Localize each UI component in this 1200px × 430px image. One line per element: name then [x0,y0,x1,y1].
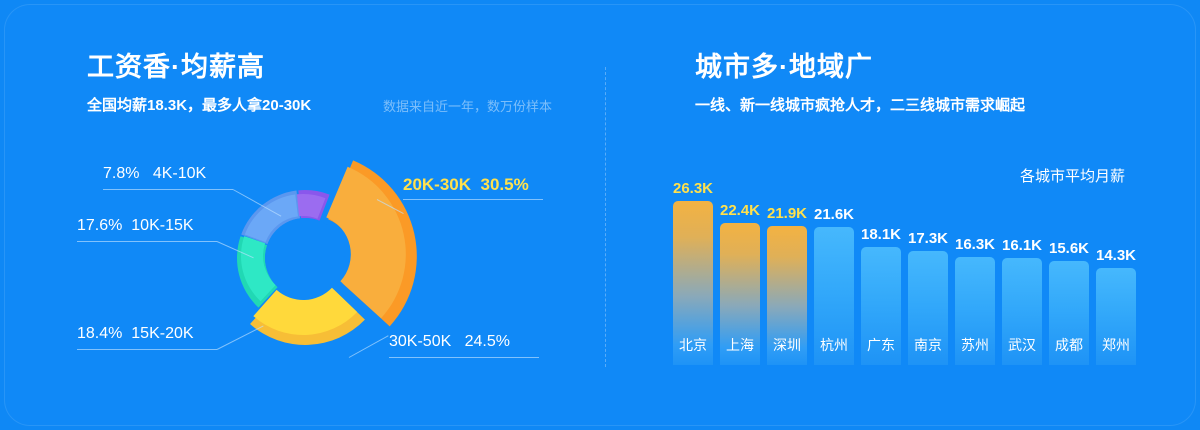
pie-callout-15k-20k: 18.4% 15K-20K [77,325,194,343]
pie-callout-range: 30K-50K [389,333,451,351]
bar-category-label: 郑州 [1102,335,1130,355]
pie-callout-range: 4K-10K [153,165,206,183]
pie-callout-4k-10k: 7.8% 4K-10K [103,165,206,183]
bar-value-label: 16.3K [955,236,995,253]
bar-value-label: 21.6K [814,206,854,223]
pie-callout-pct: 17.6% [77,217,122,235]
bar-chart-caption: 各城市平均月薪 [1020,165,1125,186]
pie-callout-10k-15k: 17.6% 10K-15K [77,217,194,235]
bar-category-label: 上海 [726,335,754,355]
bar-chart-x-axis: 北京上海深圳杭州广东南京苏州武汉成都郑州 [665,317,1135,347]
donut-center-hole [265,218,345,298]
bar-category-label: 苏州 [961,335,989,355]
pie-leader-line-1 [103,189,233,190]
left-panel-subtitle: 全国均薪18.3K，最多人拿20-30K [87,94,311,115]
pie-callout-range: 15K-20K [131,325,193,343]
bar-value-label: 21.9K [767,205,807,222]
pie-callout-30k-50k: 30K-50K 24.5% [389,333,510,351]
pie-leader-line-2 [77,241,217,242]
bar-category-label: 深圳 [773,335,801,355]
bar-category-label: 杭州 [820,335,848,355]
pie-callout-pct: 24.5% [465,333,510,351]
bar-category-label: 广东 [867,335,895,355]
left-panel-note: 数据来自近一年，数万份样本 [383,96,552,115]
bar-value-label: 15.6K [1049,240,1089,257]
bar-value-label: 14.3K [1096,247,1136,264]
bar-value-label: 26.3K [673,180,713,197]
bar-value-label: 17.3K [908,230,948,247]
pie-leader-line-4 [403,199,543,200]
pie-callout-pct: 7.8% [103,165,139,183]
pie-callout-range: 20K-30K [403,175,471,195]
right-panel-title: 城市多·地域广 [695,45,873,84]
pie-callout-20k-30k: 20K-30K 30.5% [403,175,529,195]
bar-value-label: 18.1K [861,226,901,243]
bar-value-label: 22.4K [720,202,760,219]
bar-category-label: 南京 [914,335,942,355]
pie-callout-pct: 30.5% [481,175,529,195]
bar-category-label: 武汉 [1008,335,1036,355]
bar-category-label: 成都 [1055,335,1083,355]
right-panel-subtitle: 一线、新一线城市疯抢人才，二三线城市需求崛起 [695,94,1025,115]
pie-leader-line-5 [389,357,539,358]
bar-category-label: 北京 [679,335,707,355]
panel-card: 工资香·均薪高 全国均薪18.3K，最多人拿20-30K 数据来自近一年，数万份… [4,4,1196,426]
pie-callout-range: 10K-15K [131,217,193,235]
bar-value-label: 16.1K [1002,237,1042,254]
panel-divider [605,67,606,367]
infographic-root: 工资香·均薪高 全国均薪18.3K，最多人拿20-30K 数据来自近一年，数万份… [0,0,1200,430]
left-panel-title: 工资香·均薪高 [87,45,265,84]
pie-callout-pct: 18.4% [77,325,122,343]
pie-leader-line-3 [77,349,217,350]
